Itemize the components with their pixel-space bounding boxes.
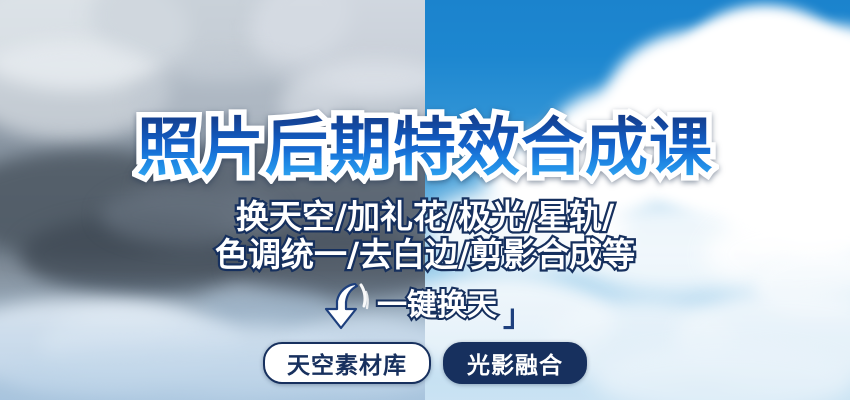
feature-badge-list: 天空素材库 光影融合 [0, 342, 850, 384]
one-key-sky-label: 一键换天 [377, 291, 497, 321]
curved-down-arrow-icon [317, 280, 373, 332]
corner-bracket-icon: 」 [503, 302, 533, 334]
banner-content: 照片后期特效合成课 照片后期特效合成课 换天空/加礼花/极光/星轨/ 色调统一/… [0, 0, 850, 400]
course-promo-banner: 照片后期特效合成课 照片后期特效合成课 换天空/加礼花/极光/星轨/ 色调统一/… [0, 0, 850, 400]
subtitle-line-1: 换天空/加礼花/极光/星轨/ [0, 200, 850, 233]
subtitle-line-2: 色调统一/去白边/剪影合成等 [0, 238, 850, 271]
main-title: 照片后期特效合成课 照片后期特效合成课 [137, 116, 713, 179]
main-title-fill: 照片后期特效合成课 [137, 111, 713, 184]
one-key-sky-row: 一键换天 」 [0, 278, 850, 334]
badge-light-shadow-blend[interactable]: 光影融合 [443, 342, 587, 384]
badge-sky-asset-library[interactable]: 天空素材库 [263, 342, 431, 384]
page-title: 照片后期特效合成课 照片后期特效合成课 [0, 116, 850, 179]
